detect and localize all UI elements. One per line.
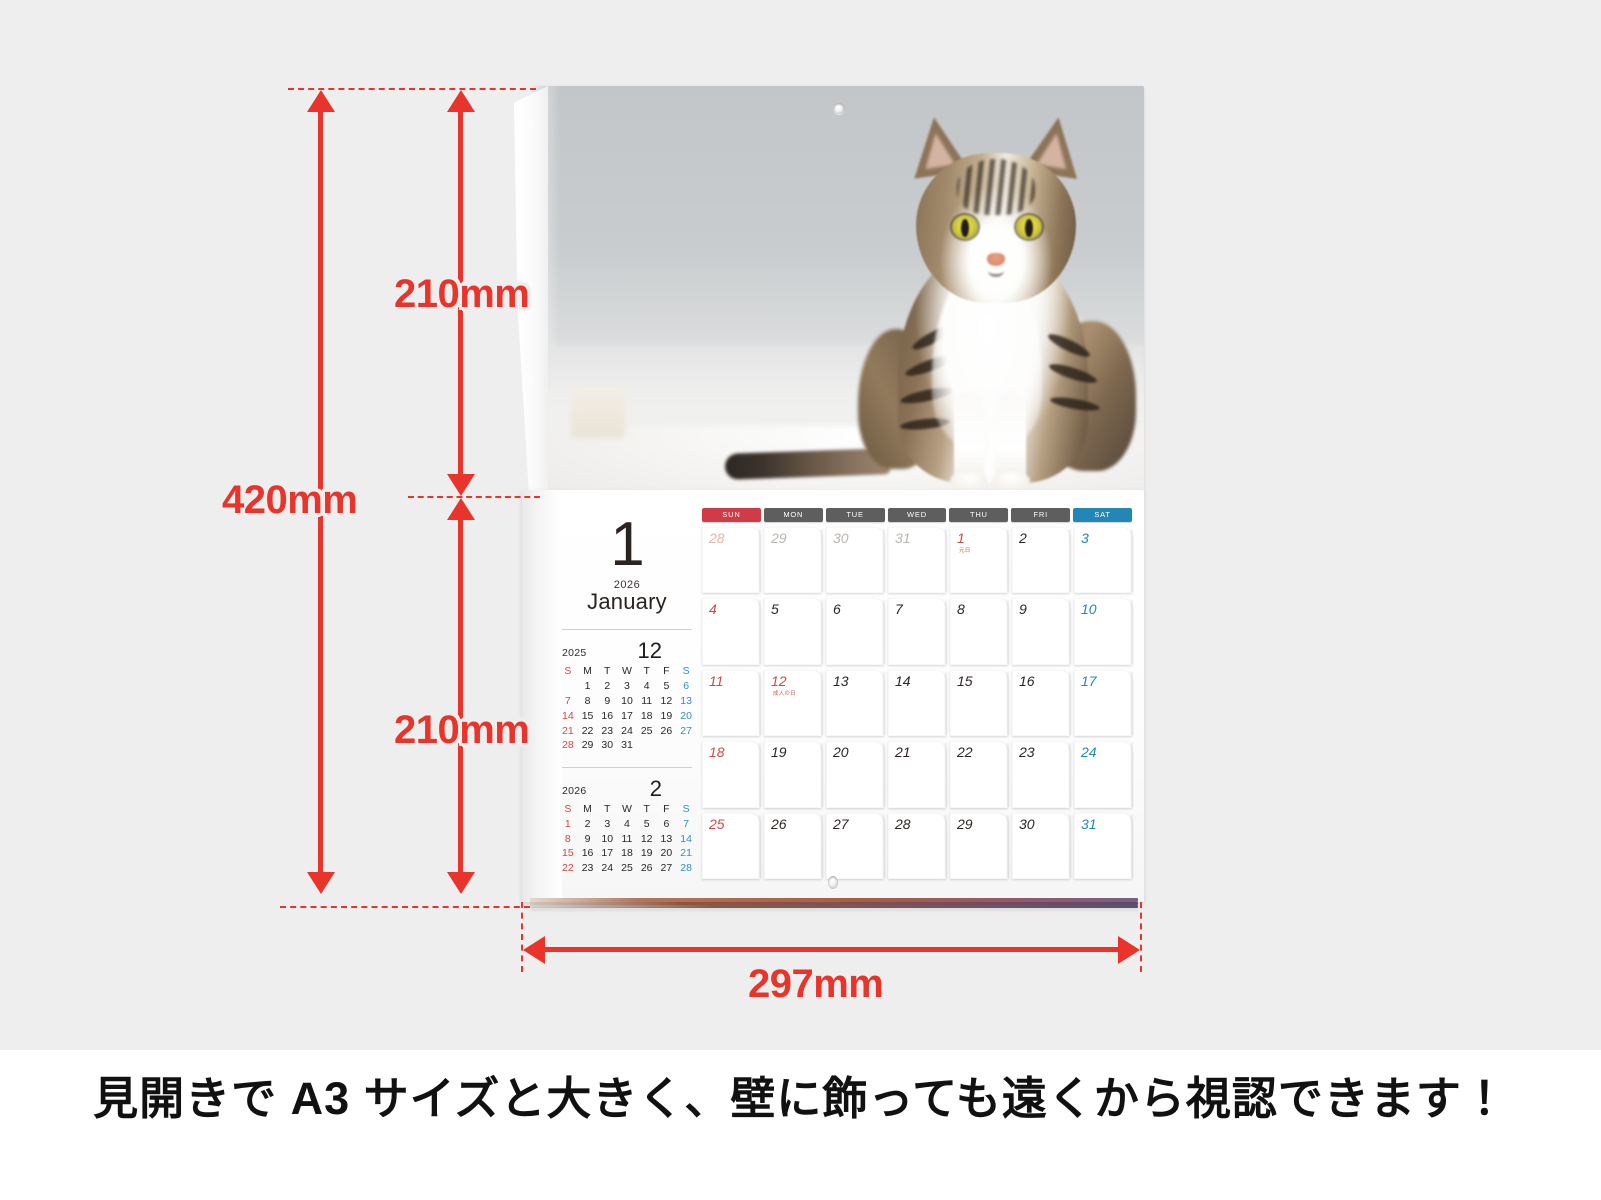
calendar-day-cell[interactable]: 24 <box>1074 741 1132 807</box>
arrow-420-top <box>307 90 335 112</box>
mini-day-cell: 24 <box>617 723 637 738</box>
arrow-210-upper-top <box>447 90 475 112</box>
arrow-297-right <box>1118 936 1140 964</box>
mini-day-cell: 2 <box>597 679 617 694</box>
day-number: 30 <box>1019 816 1035 832</box>
day-number: 5 <box>771 601 779 617</box>
mini-weekday-header: S <box>558 664 578 679</box>
day-number: 17 <box>1081 673 1097 689</box>
calendar-day-cell[interactable]: 6 <box>826 598 884 664</box>
weekday-header-mon: MON <box>764 508 823 522</box>
mini-day-cell: 2 <box>578 817 598 832</box>
divider <box>562 629 692 630</box>
calendar-day-cell[interactable]: 8 <box>950 598 1008 664</box>
mini-day-cell: 5 <box>657 679 677 694</box>
calendar-day-cell[interactable]: 26 <box>764 813 822 879</box>
mini-day-cell: 4 <box>617 817 637 832</box>
calendar-day-cell[interactable]: 23 <box>1012 741 1070 807</box>
divider <box>562 767 692 768</box>
caption-text: 見開きで A3 サイズと大きく、壁に飾っても遠くから視認できます！ <box>0 1062 1601 1127</box>
calendar-day-cell[interactable]: 11 <box>702 670 760 736</box>
stack-shadow <box>530 908 1138 911</box>
mini-day-cell: 1 <box>578 679 598 694</box>
mini-day-cell: 28 <box>558 738 578 753</box>
mini-day-cell: 15 <box>558 846 578 861</box>
mini-next-weekday-row: SMTWTFS <box>558 802 696 817</box>
photo-box-blur <box>571 386 626 439</box>
mini-day-cell: 12 <box>657 694 677 709</box>
day-number: 13 <box>833 673 849 689</box>
day-number: 22 <box>957 744 973 760</box>
mini-day-cell <box>676 738 696 753</box>
calendar-day-cell[interactable]: 16 <box>1012 670 1070 736</box>
calendar-day-cell[interactable]: 21 <box>888 741 946 807</box>
mini-day-cell: 24 <box>597 861 617 876</box>
guide-right-vertical <box>1140 902 1142 972</box>
mini-day-cell: 9 <box>597 694 617 709</box>
mini-day-cell: 18 <box>617 846 637 861</box>
mini-week-row: 22232425262728 <box>558 861 696 876</box>
mini-day-cell: 7 <box>558 694 578 709</box>
mini-day-cell: 28 <box>676 861 696 876</box>
calendar-day-cell[interactable]: 19 <box>764 741 822 807</box>
mini-day-cell: 16 <box>597 708 617 723</box>
calendar-day-cell[interactable]: 15 <box>950 670 1008 736</box>
weekday-header-tue: TUE <box>826 508 885 522</box>
mini-day-cell: 10 <box>617 694 637 709</box>
calendar-day-cell[interactable]: 30 <box>1012 813 1070 879</box>
mini-day-cell: 18 <box>637 708 657 723</box>
day-number: 29 <box>771 530 787 546</box>
calendar-day-cell[interactable]: 29 <box>950 813 1008 879</box>
mini-day-cell: 3 <box>597 817 617 832</box>
calendar-day-cell[interactable]: 3 <box>1074 527 1132 593</box>
cat-pupil-right <box>1025 219 1033 237</box>
hole-punch-icon <box>834 103 845 114</box>
calendar-day-cell[interactable]: 5 <box>764 598 822 664</box>
calendar-day-cell[interactable]: 1元日 <box>950 527 1008 593</box>
mini-day-cell: 26 <box>637 861 657 876</box>
day-number: 7 <box>895 601 903 617</box>
day-number: 21 <box>895 744 911 760</box>
label-420mm: 420mm <box>222 478 357 523</box>
mini-day-cell: 12 <box>637 831 657 846</box>
calendar-week-row: 282930311元日23 <box>702 527 1132 593</box>
cat-head <box>916 153 1076 303</box>
arrow-210-upper-bottom <box>447 474 475 496</box>
cat-forehead-stripes <box>957 159 1035 215</box>
day-number: 11 <box>709 673 724 689</box>
calendar-day-cell[interactable]: 20 <box>826 741 884 807</box>
weekday-header-wed: WED <box>888 508 947 522</box>
mini-weekday-header: T <box>597 802 617 817</box>
mini-next-month: 2 <box>650 776 662 802</box>
mini-day-cell <box>637 738 657 753</box>
mini-next-body: 1234567891011121314151617181920212223242… <box>558 817 696 876</box>
mini-day-cell: 22 <box>578 723 598 738</box>
mini-prev-header: 2025 12 <box>558 640 696 664</box>
mini-day-cell: 14 <box>676 831 696 846</box>
mini-day-cell: 25 <box>637 723 657 738</box>
mini-week-row: 891011121314 <box>558 831 696 846</box>
mini-day-cell: 13 <box>657 831 677 846</box>
label-210mm-upper: 210mm <box>394 272 529 317</box>
mini-prev-year: 2025 <box>562 647 587 659</box>
calendar-day-cell[interactable]: 28 <box>888 813 946 879</box>
calendar-day-cell[interactable]: 22 <box>950 741 1008 807</box>
mini-weekday-header: S <box>676 802 696 817</box>
day-number: 29 <box>957 816 973 832</box>
mini-weekday-header: T <box>597 664 617 679</box>
day-number: 26 <box>771 816 787 832</box>
holiday-label: 元日 <box>959 546 970 554</box>
day-number: 28 <box>709 530 725 546</box>
calendar-day-cell[interactable]: 4 <box>702 598 760 664</box>
mini-day-cell: 20 <box>657 846 677 861</box>
mini-day-cell: 27 <box>657 861 677 876</box>
screenshot-root: 1 2026 January 2025 12 SMTWTFS 123456789… <box>0 0 1601 1200</box>
mini-day-cell: 6 <box>676 679 696 694</box>
mini-weekday-header: T <box>637 802 657 817</box>
mini-next-year: 2026 <box>562 785 587 797</box>
mini-day-cell: 20 <box>676 708 696 723</box>
mini-day-cell: 6 <box>657 817 677 832</box>
mini-day-cell: 21 <box>676 846 696 861</box>
mini-day-cell: 30 <box>597 738 617 753</box>
mini-week-row: 78910111213 <box>558 694 696 709</box>
calendar-day-cell[interactable]: 31 <box>1074 813 1132 879</box>
mini-day-cell <box>657 738 677 753</box>
mini-day-cell: 22 <box>558 861 578 876</box>
mini-day-cell <box>558 679 578 694</box>
calendar-day-cell[interactable]: 29 <box>764 527 822 593</box>
mini-weekday-header: M <box>578 802 598 817</box>
page-stack-edge <box>530 898 1138 911</box>
label-210mm-lower: 210mm <box>394 708 529 753</box>
day-number: 20 <box>833 744 849 760</box>
mini-week-row: 1234567 <box>558 817 696 832</box>
calendar-day-cell[interactable]: 28 <box>702 527 760 593</box>
weekday-header-sun: SUN <box>702 508 761 522</box>
day-number: 6 <box>833 601 841 617</box>
dim-line-297 <box>543 947 1121 952</box>
mini-day-cell: 29 <box>578 738 598 753</box>
mini-week-row: 123456 <box>558 679 696 694</box>
hole-punch-bottom-icon <box>828 876 838 889</box>
mini-weekday-header: F <box>657 664 677 679</box>
label-297mm: 297mm <box>748 962 883 1007</box>
calendar-day-cell[interactable]: 9 <box>1012 598 1070 664</box>
guide-bottom <box>280 906 530 908</box>
cat-paw-left <box>950 471 988 491</box>
mini-weekday-header: S <box>558 802 578 817</box>
mini-day-cell: 14 <box>558 708 578 723</box>
mini-day-cell: 26 <box>657 723 677 738</box>
mini-day-cell: 7 <box>676 817 696 832</box>
mini-day-cell: 11 <box>617 831 637 846</box>
mini-day-cell: 19 <box>637 846 657 861</box>
mini-day-cell: 17 <box>617 708 637 723</box>
mini-day-cell: 15 <box>578 708 598 723</box>
day-number: 30 <box>833 530 849 546</box>
mini-day-cell: 13 <box>676 694 696 709</box>
mini-next-table: SMTWTFS 12345678910111213141516171819202… <box>558 802 696 876</box>
day-number: 31 <box>1081 816 1097 832</box>
day-number: 27 <box>833 816 849 832</box>
mini-day-cell: 27 <box>676 723 696 738</box>
day-number: 28 <box>895 816 911 832</box>
calendar-week-row: 1112成人の日1314151617 <box>702 670 1132 736</box>
day-number: 12 <box>771 673 787 689</box>
dim-line-210-lower <box>458 518 463 872</box>
mini-day-cell: 17 <box>597 846 617 861</box>
calendar-day-cell[interactable]: 27 <box>826 813 884 879</box>
calendar-day-cell[interactable]: 17 <box>1074 670 1132 736</box>
arrow-210-lower-bottom <box>447 872 475 894</box>
mini-weekday-header: W <box>617 802 637 817</box>
cat-illustration <box>870 153 1120 483</box>
day-number: 9 <box>1019 601 1027 617</box>
calendar-grid: SUNMONTUEWEDTHUFRISAT 282930311元日2345678… <box>702 508 1132 886</box>
mini-day-cell: 31 <box>617 738 637 753</box>
mini-weekday-header: T <box>637 664 657 679</box>
mini-week-row: 21222324252627 <box>558 723 696 738</box>
mini-day-cell: 25 <box>617 861 637 876</box>
calendar-mockup: 1 2026 January 2025 12 SMTWTFS 123456789… <box>512 86 1144 911</box>
calendar-day-cell[interactable]: 2 <box>1012 527 1070 593</box>
mini-prev-table: SMTWTFS 12345678910111213141516171819202… <box>558 664 696 753</box>
day-number: 2 <box>1019 530 1027 546</box>
mini-prev-weekday-row: SMTWTFS <box>558 664 696 679</box>
weekday-header-thu: THU <box>949 508 1008 522</box>
day-number: 3 <box>1081 530 1089 546</box>
calendar-day-cell[interactable]: 31 <box>888 527 946 593</box>
weekday-header-sat: SAT <box>1073 508 1132 522</box>
mini-calendar-next: 2026 2 SMTWTFS 1234567891011121314151617… <box>556 778 698 876</box>
day-number: 31 <box>895 530 911 546</box>
calendar-day-cell[interactable]: 7 <box>888 598 946 664</box>
mini-day-cell: 16 <box>578 846 598 861</box>
day-number: 1 <box>957 530 965 546</box>
mini-day-cell: 1 <box>558 817 578 832</box>
weekday-header-fri: FRI <box>1011 508 1070 522</box>
arrow-420-bottom <box>307 872 335 894</box>
day-number: 8 <box>957 601 965 617</box>
month-number: 1 <box>556 516 698 573</box>
mini-day-cell: 23 <box>578 861 598 876</box>
mini-week-row: 15161718192021 <box>558 846 696 861</box>
mini-weekday-header: S <box>676 664 696 679</box>
mini-week-row: 28293031 <box>558 738 696 753</box>
calendar-week-row: 18192021222324 <box>702 741 1132 807</box>
mini-day-cell: 19 <box>657 708 677 723</box>
day-number: 25 <box>709 816 725 832</box>
mini-day-cell: 4 <box>637 679 657 694</box>
arrow-297-left <box>523 936 545 964</box>
day-number: 10 <box>1081 601 1097 617</box>
calendar-day-cell[interactable]: 13 <box>826 670 884 736</box>
month-english-name: January <box>556 589 698 615</box>
cat-pupil-left <box>961 219 969 237</box>
calendar-day-cell[interactable]: 18 <box>702 741 760 807</box>
day-number: 16 <box>1019 673 1035 689</box>
mini-week-row: 14151617181920 <box>558 708 696 723</box>
calendar-week-row: 25262728293031 <box>702 813 1132 879</box>
mini-day-cell: 3 <box>617 679 637 694</box>
mini-day-cell: 21 <box>558 723 578 738</box>
calendar-day-cell[interactable]: 25 <box>702 813 760 879</box>
mini-day-cell: 23 <box>597 723 617 738</box>
calendar-day-cell[interactable]: 12成人の日 <box>764 670 822 736</box>
calendar-weeks: 282930311元日23456789101112成人の日13141516171… <box>702 527 1132 879</box>
calendar-day-cell[interactable]: 10 <box>1074 598 1132 664</box>
mini-prev-body: 1234567891011121314151617181920212223242… <box>558 679 696 753</box>
calendar-photo-page <box>534 86 1144 491</box>
mini-next-header: 2026 2 <box>558 778 696 802</box>
day-number: 19 <box>771 744 787 760</box>
mini-calendar-prev: 2025 12 SMTWTFS 123456789101112131415161… <box>556 640 698 753</box>
day-number: 18 <box>709 744 725 760</box>
calendar-day-cell[interactable]: 30 <box>826 527 884 593</box>
day-number: 15 <box>957 673 973 689</box>
weekday-header-row: SUNMONTUEWEDTHUFRISAT <box>702 508 1132 522</box>
arrow-210-lower-top <box>447 498 475 520</box>
day-number: 14 <box>895 673 911 689</box>
month-title-column: 1 2026 January 2025 12 SMTWTFS 123456789… <box>556 504 698 886</box>
calendar-date-page: 1 2026 January 2025 12 SMTWTFS 123456789… <box>522 490 1144 902</box>
mini-weekday-header: F <box>657 802 677 817</box>
mini-weekday-header: M <box>578 664 598 679</box>
mini-day-cell: 11 <box>637 694 657 709</box>
cat-mouth <box>988 265 1004 277</box>
cat-paw-right <box>992 471 1030 491</box>
day-number: 23 <box>1019 744 1035 760</box>
mini-day-cell: 8 <box>578 694 598 709</box>
mini-day-cell: 9 <box>578 831 598 846</box>
day-number: 4 <box>709 601 717 617</box>
mini-day-cell: 5 <box>637 817 657 832</box>
calendar-week-row: 45678910 <box>702 598 1132 664</box>
mini-day-cell: 10 <box>597 831 617 846</box>
mini-prev-month: 12 <box>638 638 662 664</box>
calendar-day-cell[interactable]: 14 <box>888 670 946 736</box>
mini-weekday-header: W <box>617 664 637 679</box>
mini-day-cell: 8 <box>558 831 578 846</box>
day-number: 24 <box>1081 744 1097 760</box>
holiday-label: 成人の日 <box>773 689 796 697</box>
